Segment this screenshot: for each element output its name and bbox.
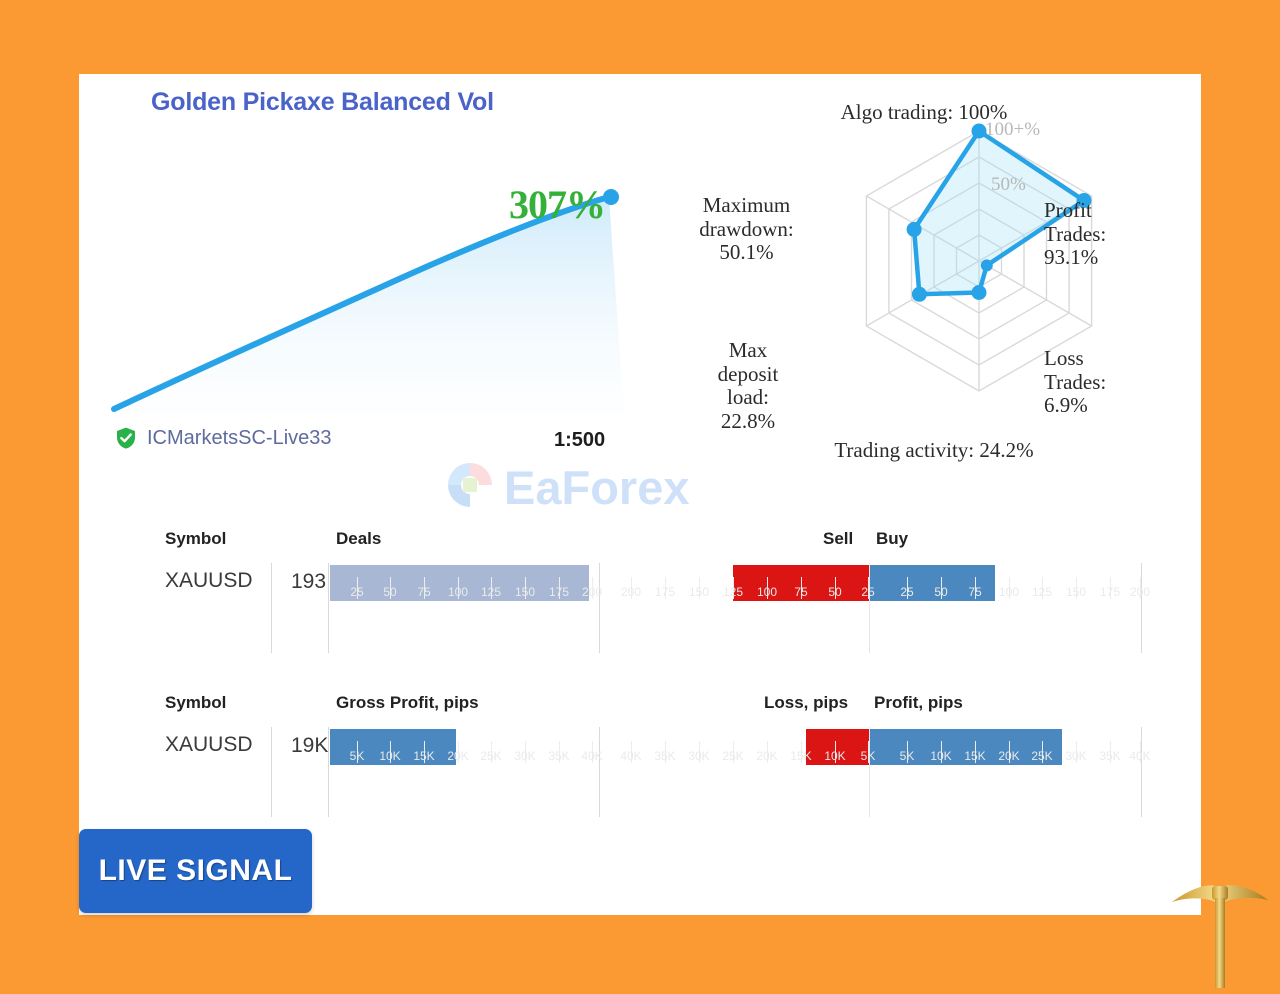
- col-deals: Deals: [336, 529, 381, 549]
- row-symbol: XAUUSD: [165, 569, 285, 593]
- tick-label: 200: [570, 585, 614, 599]
- leverage-value: 1:500: [554, 429, 605, 452]
- axis-end-line: [599, 727, 600, 817]
- center-divider: [869, 563, 870, 653]
- center-divider: [869, 727, 870, 817]
- profit-table-header: Symbol Gross Profit, pips Loss, pips Pro…: [79, 693, 1201, 723]
- total-gain-label: 307%: [509, 181, 605, 228]
- radar-chart: 100+% 50% Algo trading: 100% Profit Trad…: [674, 94, 1174, 504]
- live-signal-label: LIVE SIGNAL: [99, 854, 293, 888]
- tick-label: 200: [1118, 585, 1162, 599]
- tick-label: 5K: [846, 749, 890, 763]
- col-divider: [271, 563, 272, 653]
- row-symbol: XAUUSD: [165, 733, 285, 757]
- tick-label: 25: [846, 585, 890, 599]
- radar-ring-mid-label: 50%: [991, 174, 1026, 196]
- signal-card: Golden Pickaxe Balanced Vol 307% ICMarke…: [79, 74, 1201, 915]
- col-symbol: Symbol: [165, 693, 226, 713]
- pickaxe-icon: [1164, 874, 1274, 989]
- shield-check-icon: [114, 426, 138, 450]
- axis-end-line: [599, 563, 600, 653]
- eaforex-watermark: EaForex: [444, 459, 689, 516]
- broker-name: ICMarketsSC-Live33: [147, 427, 332, 450]
- radar-label-loss-trades: Loss Trades: 6.9%: [1044, 347, 1174, 418]
- deals-table-header: Symbol Deals Sell Buy: [79, 529, 1201, 559]
- eaforex-logo-icon: [444, 459, 496, 516]
- radar-label-profit-trades: Profit Trades: 93.1%: [1044, 199, 1174, 270]
- col-divider: [271, 727, 272, 817]
- growth-chart-svg: [99, 119, 659, 429]
- tick-label: 40K: [570, 749, 614, 763]
- col-sell: Sell: [823, 529, 853, 549]
- col-profit-pips: Profit, pips: [874, 693, 963, 713]
- radar-label-trading-activity: Trading activity: 24.2%: [789, 439, 1079, 463]
- live-signal-button[interactable]: LIVE SIGNAL: [79, 829, 312, 913]
- growth-endpoint-dot: [603, 189, 619, 205]
- col-symbol: Symbol: [165, 529, 226, 549]
- axis-start-line: [328, 727, 329, 817]
- growth-area-fill: [114, 197, 624, 414]
- broker-row: ICMarketsSC-Live33: [114, 426, 332, 450]
- deals-table: Symbol Deals Sell Buy XAUUSD 193 25 50 7…: [79, 529, 1201, 609]
- axis-right-end-line: [1141, 563, 1142, 653]
- growth-chart: 307%: [99, 119, 659, 429]
- profit-table: Symbol Gross Profit, pips Loss, pips Pro…: [79, 693, 1201, 773]
- page-title: Golden Pickaxe Balanced Vol: [151, 88, 494, 117]
- table-row: XAUUSD 193: [79, 559, 1201, 609]
- radar-label-algo-trading: Algo trading: 100%: [794, 101, 1054, 125]
- col-loss-pips: Loss, pips: [764, 693, 848, 713]
- tick-label: 40K: [1118, 749, 1162, 763]
- radar-label-max-deposit-load: Max deposit load: 22.8%: [684, 339, 812, 433]
- axis-start-line: [328, 563, 329, 653]
- table-row: XAUUSD 19K: [79, 723, 1201, 773]
- eaforex-wordmark: EaForex: [504, 460, 689, 515]
- radar-label-max-drawdown: Maximum drawdown: 50.1%: [674, 194, 819, 265]
- col-gross-profit: Gross Profit, pips: [336, 693, 479, 713]
- axis-right-end-line: [1141, 727, 1142, 817]
- col-buy: Buy: [876, 529, 908, 549]
